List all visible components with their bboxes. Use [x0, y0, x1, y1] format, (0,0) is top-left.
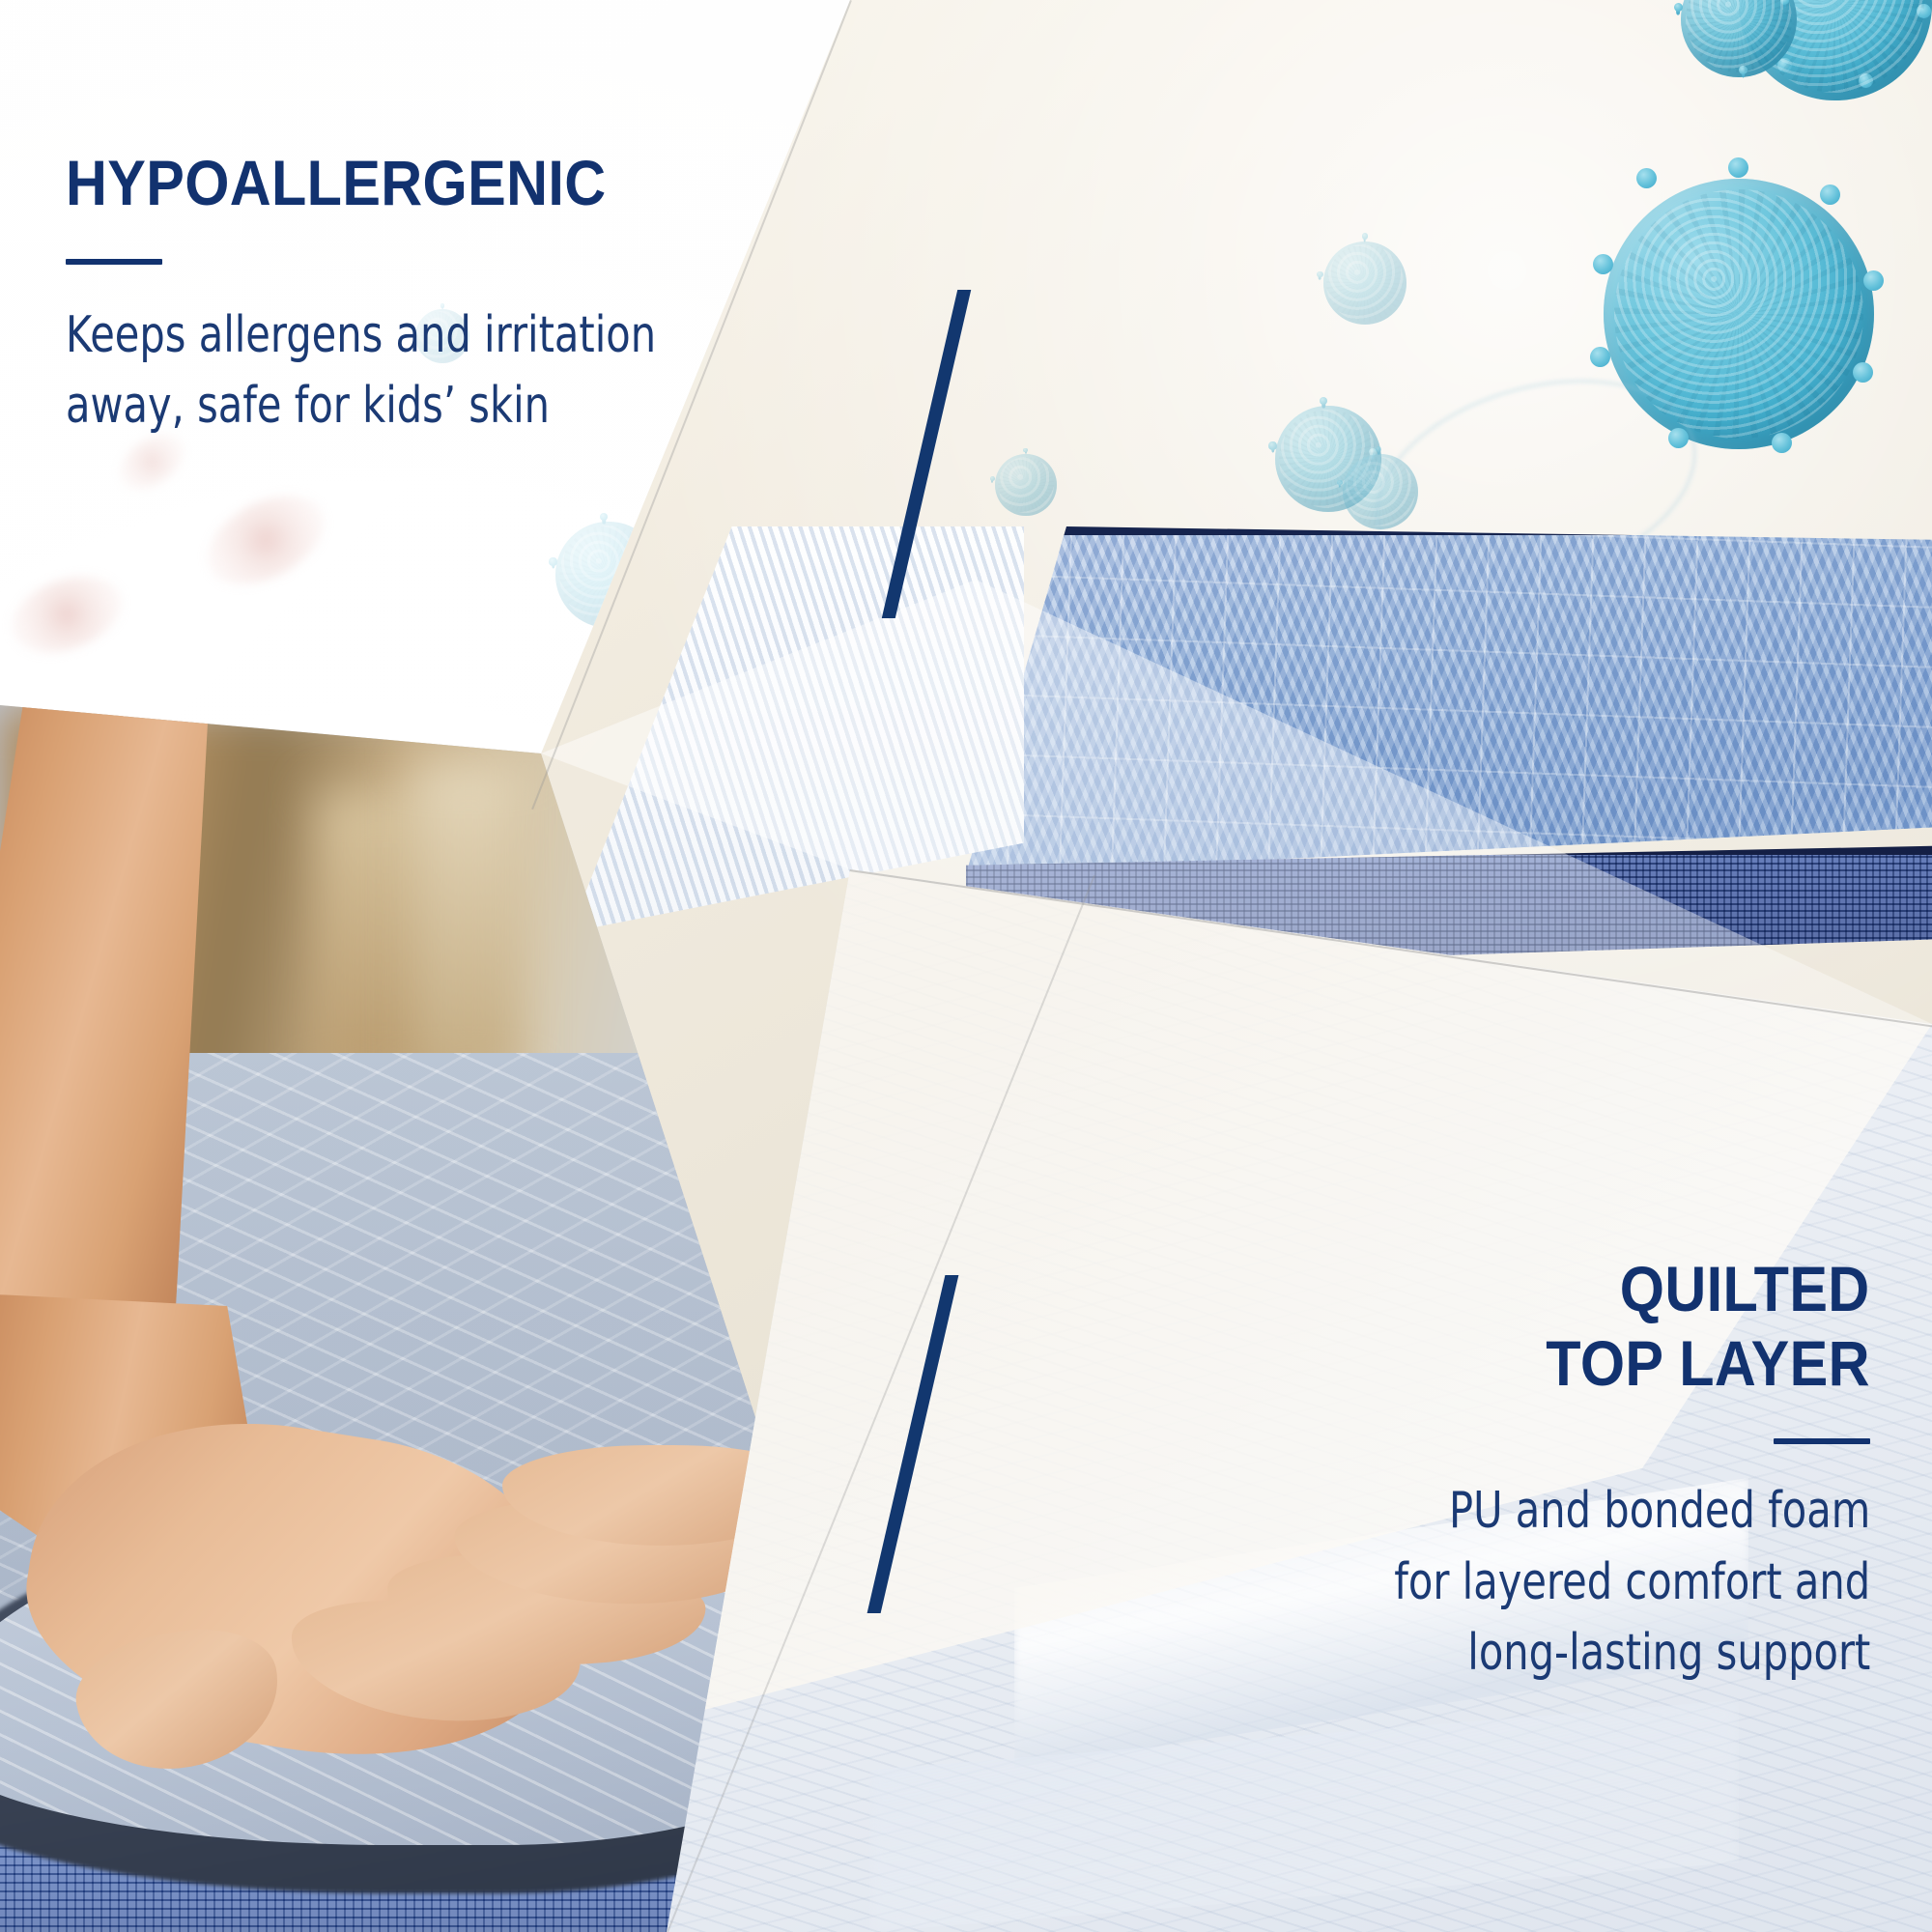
quilted-heading-line-1: QUILTED — [1620, 1256, 1870, 1322]
hypoallergenic-divider — [66, 259, 162, 265]
hypoallergenic-body-line-2: away, safe for kids’ skin — [66, 374, 653, 440]
quilted-heading-line-2: TOP LAYER — [1546, 1330, 1870, 1397]
quilted-body-line-2: for layered comfort and — [1394, 1550, 1870, 1616]
feature-quilted-top-layer: QUILTED TOP LAYER PU and bonded foam for… — [1136, 1256, 1870, 1687]
virus-particle-icon — [1323, 241, 1406, 325]
quilted-body-line-3: long-lasting support — [1467, 1621, 1870, 1687]
hypoallergenic-body-line-1: Keeps allergens and irritation — [66, 303, 653, 369]
virus-particle-icon — [995, 454, 1057, 516]
feature-hypoallergenic: HYPOALLERGENIC Keeps allergens and irrit… — [66, 150, 800, 440]
infographic-canvas: HYPOALLERGENIC Keeps allergens and irrit… — [0, 0, 1932, 1932]
bedroom-furniture — [415, 763, 522, 1082]
quilted-body-line-1: PU and bonded foam — [1449, 1479, 1870, 1545]
quilted-divider — [1774, 1438, 1870, 1444]
hypoallergenic-heading: HYPOALLERGENIC — [66, 150, 726, 216]
